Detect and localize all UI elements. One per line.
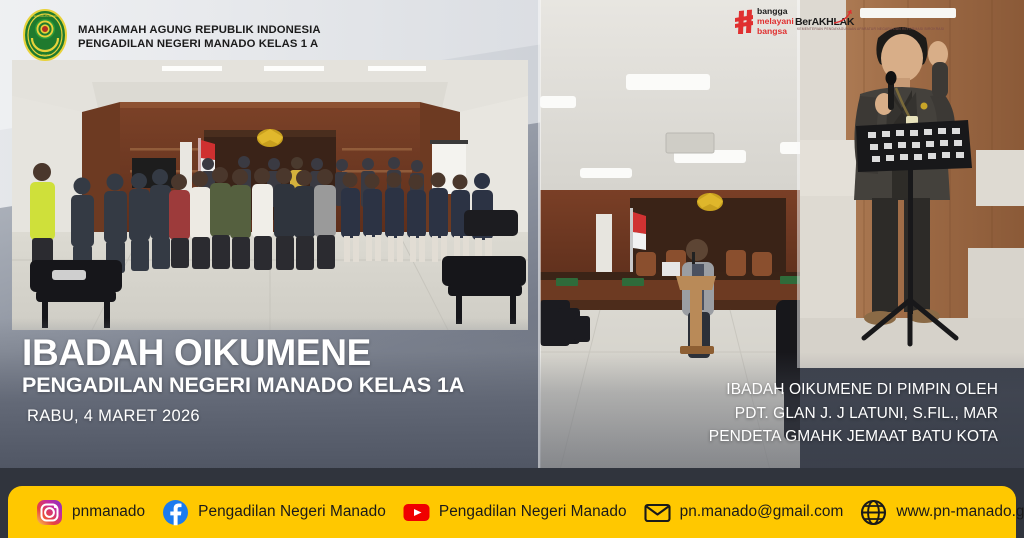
instagram-icon[interactable] <box>36 499 63 526</box>
youtube-channel-name[interactable]: Pengadilan Negeri Manado <box>439 503 627 521</box>
svg-text:MANADO: MANADO <box>39 53 50 57</box>
group-photo-courtroom <box>12 60 528 330</box>
berakhlak-word-3: bangsa <box>757 27 794 37</box>
email-address[interactable]: pn.manado@gmail.com <box>680 503 844 521</box>
supreme-court-emblem-icon: PENGADILAN NEGERI MANADO <box>20 8 70 62</box>
footer-item-instagram[interactable]: pnmanado <box>36 499 145 526</box>
institution-header: MAHKAMAH AGUNG REPUBLIK INDONESIA PENGAD… <box>78 24 321 52</box>
youtube-icon[interactable] <box>403 499 430 526</box>
panel-divider-right <box>797 0 800 368</box>
institution-line-2: PENGADILAN NEGERI MANADO KELAS 1 A <box>78 38 321 52</box>
email-icon[interactable] <box>644 499 671 526</box>
website-url[interactable]: www.pn-manado.go.id <box>896 503 1024 521</box>
event-title-block: IBADAH OIKUMENE PENGADILAN NEGERI MANADO… <box>22 334 464 426</box>
caption-line-2: PDT. GLAN J. J LATUNI, S.FIL., MAR <box>709 402 998 426</box>
caption-line-1: IBADAH OIKUMENE DI PIMPIN OLEH <box>709 378 998 402</box>
facebook-page-name[interactable]: Pengadilan Negeri Manado <box>198 503 386 521</box>
footer-item-facebook[interactable]: Pengadilan Negeri Manado <box>162 499 386 526</box>
social-media-footer: pnmanado Pengadilan Negeri Manado Pengad… <box>8 486 1016 538</box>
footer-item-website[interactable]: www.pn-manado.go.id <box>860 499 1024 526</box>
panel-divider-left <box>538 0 541 470</box>
berakhlak-tagline: KEMENTERIAN PENDAYAGUNAAN APARATUR NEGAR… <box>797 27 944 31</box>
caption-line-3: PENDETA GMAHK JEMAAT BATU KOTA <box>709 425 998 449</box>
footer-item-youtube[interactable]: Pengadilan Negeri Manado <box>403 499 627 526</box>
berakhlak-logo: bangga melayani bangsa BerAKHLAK KEMENTE… <box>733 6 845 38</box>
event-title: IBADAH OIKUMENE <box>22 334 464 371</box>
emblem-svg: PENGADILAN NEGERI MANADO <box>20 8 70 62</box>
globe-icon[interactable] <box>860 499 887 526</box>
event-subtitle: PENGADILAN NEGERI MANADO KELAS 1A <box>22 373 464 398</box>
footer-item-email[interactable]: pn.manado@gmail.com <box>644 499 844 526</box>
instagram-handle[interactable]: pnmanado <box>72 503 145 521</box>
facebook-icon[interactable] <box>162 499 189 526</box>
institution-line-1: MAHKAMAH AGUNG REPUBLIK INDONESIA <box>78 24 321 38</box>
berakhlak-wordmark: bangga melayani bangsa <box>757 7 794 37</box>
berakhlak-mark-icon <box>733 9 755 35</box>
poster-canvas: PENGADILAN NEGERI MANADO MAHKAMAH AGUNG … <box>0 0 1024 538</box>
group-photo-illustration <box>12 60 528 330</box>
preacher-photo-illustration <box>800 0 1024 368</box>
event-date: RABU, 4 MARET 2026 <box>27 407 464 426</box>
preacher-with-microphone-photo <box>800 0 1024 368</box>
speaker-credit-caption: IBADAH OIKUMENE DI PIMPIN OLEH PDT. GLAN… <box>709 378 998 449</box>
berakhlak-swoosh-icon <box>833 9 855 25</box>
svg-text:PENGADILAN NEGERI: PENGADILAN NEGERI <box>32 15 58 18</box>
